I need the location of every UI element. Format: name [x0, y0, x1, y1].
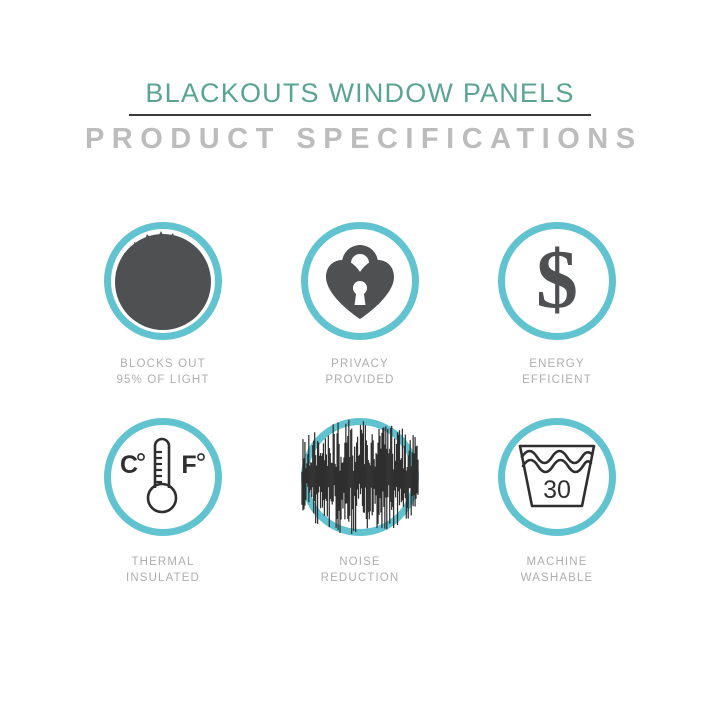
badge-ring [104, 222, 222, 340]
feature-energy-efficient: $ ENERGY EFFICIENT [482, 222, 632, 388]
feature-caption: ENERGY EFFICIENT [522, 356, 592, 388]
caption-line-1: NOISE [339, 556, 381, 568]
caption-line-2: EFFICIENT [522, 372, 592, 388]
badge-ring [301, 222, 419, 340]
badge-ring: $ [498, 222, 616, 340]
feature-noise-reduction: NOISE REDUCTION [285, 418, 435, 586]
feature-caption: NOISE REDUCTION [321, 554, 400, 586]
feature-blocks-out-light: BLOCKS OUT 95% OF LIGHT [88, 222, 238, 388]
heart-padlock-icon [322, 241, 398, 321]
caption-line-2: REDUCTION [321, 570, 400, 586]
caption-line-1: THERMAL [131, 556, 194, 568]
dollar-sign-icon: $ [520, 237, 594, 325]
feature-row-2: C F THERMAL INSULATED [88, 418, 632, 586]
caption-line-2: PROVIDED [325, 372, 394, 388]
feature-caption: BLOCKS OUT 95% OF LIGHT [116, 356, 209, 388]
feature-row-1: BLOCKS OUT 95% OF LIGHT [88, 222, 632, 388]
wash-temperature-label: 30 [543, 476, 571, 504]
celsius-label: C [120, 451, 138, 479]
degree-icon-fahrenheit [198, 454, 204, 460]
feature-caption: MACHINE WASHABLE [521, 554, 594, 586]
blocked-sun-icon [111, 229, 215, 333]
page-title: BLACKOUTS WINDOW PANELS [0, 78, 720, 108]
feature-machine-washable: 30 MACHINE WASHABLE [482, 418, 632, 586]
header: BLACKOUTS WINDOW PANELS PRODUCT SPECIFIC… [0, 78, 720, 156]
page-subtitle: PRODUCT SPECIFICATIONS [0, 122, 720, 156]
feature-privacy: PRIVACY PROVIDED [285, 222, 435, 388]
caption-line-1: MACHINE [526, 556, 587, 568]
feature-caption: THERMAL INSULATED [126, 554, 200, 586]
fahrenheit-label: F [181, 451, 196, 479]
caption-line-1: ENERGY [529, 358, 584, 370]
badge-ring: C F [104, 418, 222, 536]
caption-line-2: WASHABLE [521, 570, 594, 586]
title-divider [129, 114, 591, 116]
sound-wave-icon [300, 418, 420, 536]
feature-thermal-insulated: C F THERMAL INSULATED [88, 418, 238, 586]
caption-line-1: BLOCKS OUT [120, 358, 206, 370]
infographic-canvas: BLACKOUTS WINDOW PANELS PRODUCT SPECIFIC… [0, 0, 720, 720]
badge-ring: 30 [498, 418, 616, 536]
degree-icon-celsius [138, 454, 144, 460]
feature-caption: PRIVACY PROVIDED [325, 356, 394, 388]
wash-tub-icon: 30 [514, 440, 600, 514]
badge-ring [301, 418, 419, 536]
dollar-glyph: $ [536, 233, 578, 326]
thermometer-icon: C F [117, 436, 209, 518]
caption-line-1: PRIVACY [331, 358, 389, 370]
caption-line-2: INSULATED [126, 570, 200, 586]
caption-line-2: 95% OF LIGHT [116, 372, 209, 388]
feature-grid: BLOCKS OUT 95% OF LIGHT [88, 222, 632, 586]
